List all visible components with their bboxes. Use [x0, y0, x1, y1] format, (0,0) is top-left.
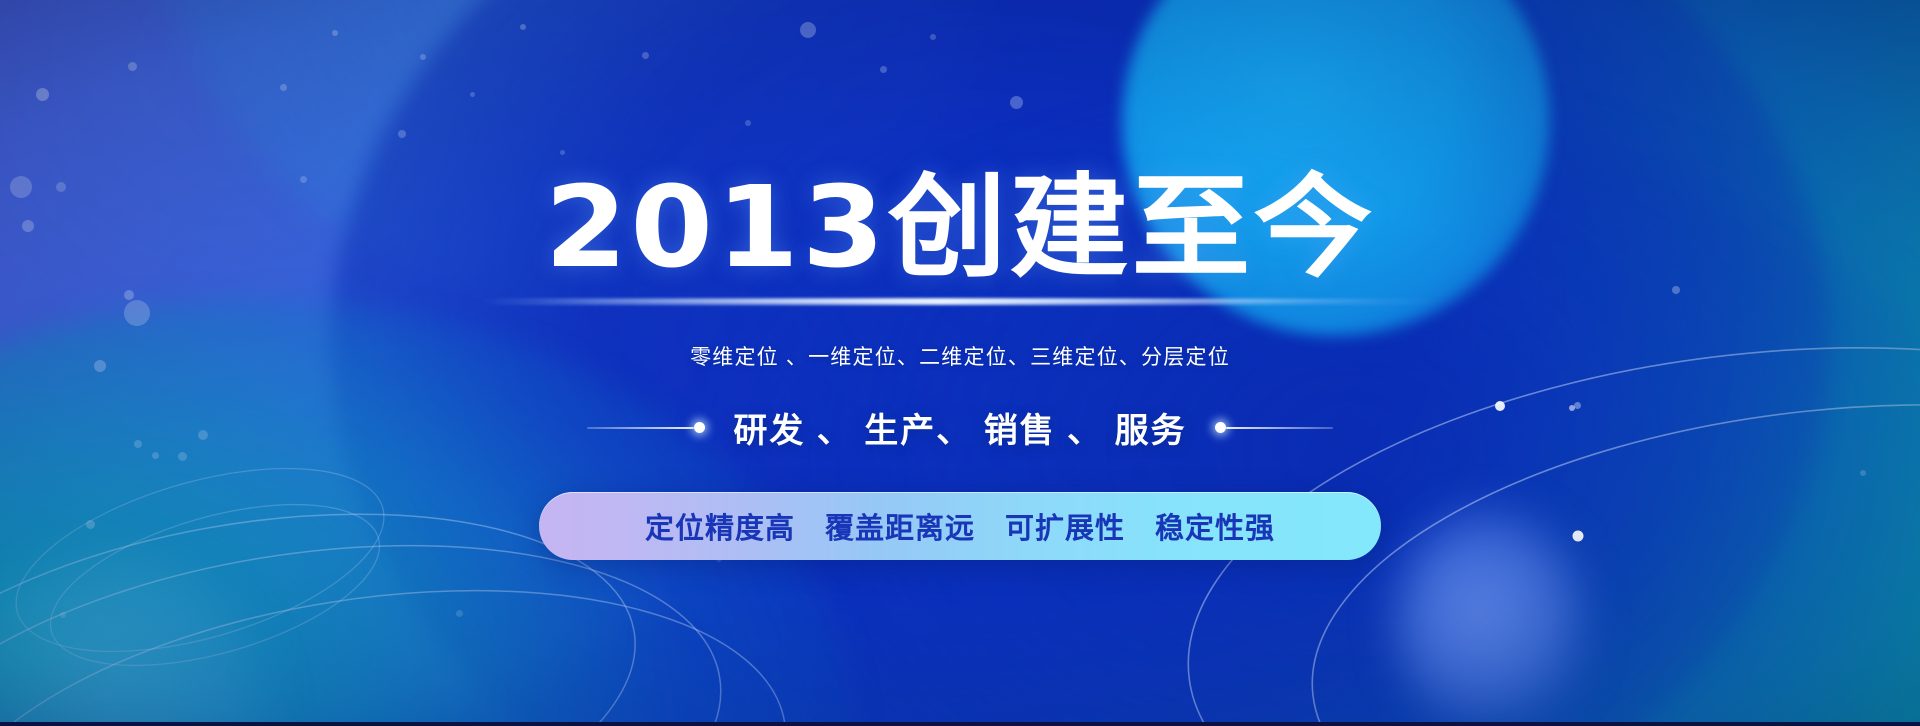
dash-line-icon [587, 427, 694, 429]
pillars-text: 研发 、 生产、 销售 、 服务 [733, 403, 1186, 452]
dash-left-decoration [587, 422, 705, 434]
pillars-row: 研发 、 生产、 销售 、 服务 [587, 403, 1332, 452]
dash-line-icon [1226, 427, 1333, 429]
banner-content: 2013创建至今 零维定位 、一维定位、二维定位、三维定位、分层定位 研发 、 … [0, 0, 1920, 726]
features-pill: 定位精度高 覆盖距离远 可扩展性 稳定性强 [539, 492, 1381, 560]
bottom-edge-strip [0, 722, 1920, 726]
page-title: 2013创建至今 [451, 172, 1469, 284]
features-text: 定位精度高 覆盖距离远 可扩展性 稳定性强 [645, 505, 1275, 547]
dash-right-decoration [1215, 422, 1333, 434]
dash-dot-icon [694, 422, 705, 433]
hero-banner: 2013创建至今 零维定位 、一维定位、二维定位、三维定位、分层定位 研发 、 … [0, 0, 1920, 726]
dash-dot-icon [1215, 422, 1226, 433]
title-block: 2013创建至今 [480, 172, 1440, 305]
subtitle-text: 零维定位 、一维定位、二维定位、三维定位、分层定位 [690, 341, 1230, 371]
title-underline-glow [480, 298, 1440, 305]
